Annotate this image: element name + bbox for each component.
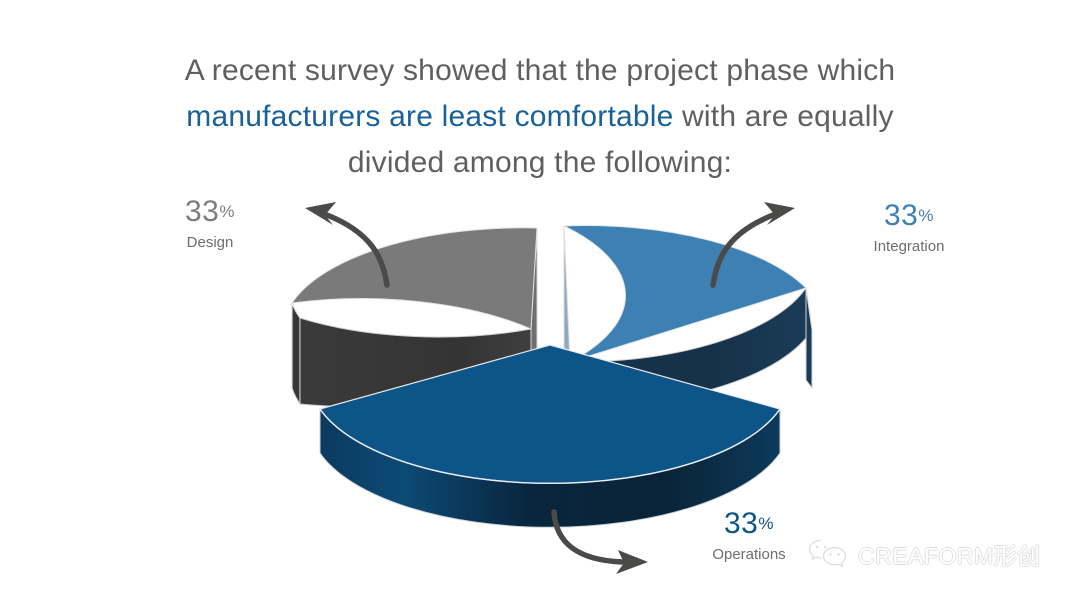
slice-value-design: 33% [150, 196, 270, 228]
slice-name-operations: Operations [690, 544, 808, 566]
slice-name-design: Design [150, 232, 270, 254]
watermark: CREAFORM形创 [806, 536, 1041, 572]
slice-label-design: 33% Design [150, 196, 270, 254]
slice-label-integration: 33% Integration [845, 200, 973, 258]
pie-chart: 33% Design 33% Integration 33% Operation… [0, 0, 1080, 608]
slice-value-integration: 33% [845, 200, 973, 232]
slice-name-integration: Integration [845, 236, 973, 258]
watermark-text: CREAFORM形创 [858, 537, 1041, 571]
pie-chart-svg [0, 0, 1080, 608]
design-slice-top [292, 228, 537, 329]
integration-arrow-head [764, 202, 795, 225]
slice-value-operations: 33% [690, 508, 808, 540]
wechat-icon [806, 536, 850, 572]
design-rim-left [292, 303, 300, 404]
integration-rim-right [806, 288, 812, 388]
design-arrow-head [305, 202, 336, 225]
slice-label-operations: 33% Operations [690, 508, 808, 566]
